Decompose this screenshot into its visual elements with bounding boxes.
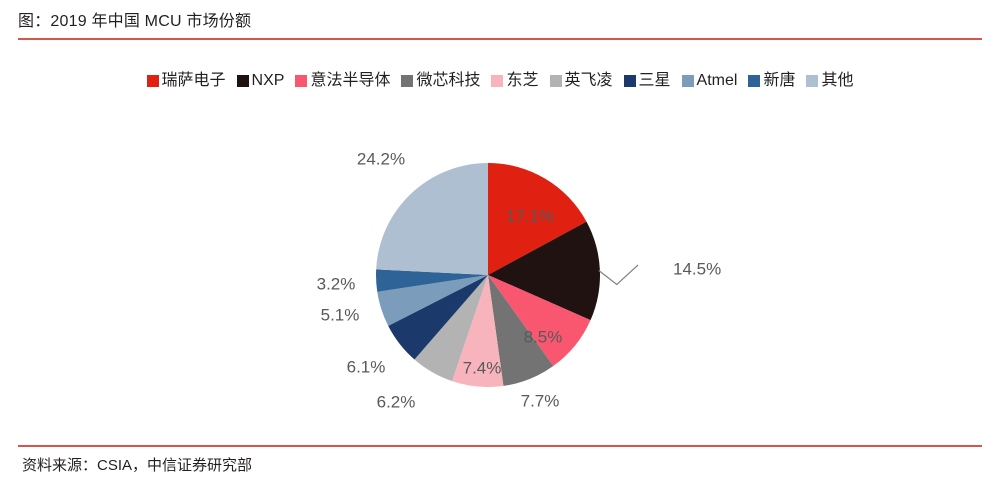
legend-item[interactable]: 新唐 <box>748 72 795 90</box>
legend-item-label: Atmel <box>697 72 738 90</box>
pie-chart-svg: 17.1%14.5%8.5%7.7%7.4%6.2%6.1%5.1%3.2%24… <box>0 106 1000 436</box>
legend-swatch-icon <box>624 75 636 87</box>
pie-label-leader-line <box>599 265 638 285</box>
legend-item-label: 瑞萨电子 <box>162 72 226 90</box>
legend-item[interactable]: 三星 <box>624 72 671 90</box>
legend-item-label: 东芝 <box>506 72 538 90</box>
legend-item-label: 新唐 <box>763 72 795 90</box>
title-divider <box>18 38 982 40</box>
source-note: 资料来源：CSIA，中信证券研究部 <box>22 455 252 477</box>
legend-item[interactable]: 瑞萨电子 <box>147 72 226 90</box>
legend-swatch-icon <box>295 75 307 87</box>
pie-slice-group <box>376 163 600 387</box>
legend-swatch-icon <box>237 75 249 87</box>
legend-item-label: NXP <box>252 72 285 90</box>
legend-item[interactable]: 东芝 <box>491 72 538 90</box>
legend-swatch-icon <box>550 75 562 87</box>
pie-leader-line-group <box>599 265 638 285</box>
pie-slice[interactable] <box>376 163 488 275</box>
page-title: 图：2019 年中国 MCU 市场份额 <box>18 10 982 34</box>
pie-slice-label: 24.2% <box>357 149 405 168</box>
legend-item[interactable]: 微芯科技 <box>401 72 480 90</box>
pie-slice-label: 14.5% <box>673 259 721 278</box>
legend-swatch-icon <box>147 75 159 87</box>
pie-slice-label: 7.4% <box>463 358 502 377</box>
legend-item[interactable]: Atmel <box>682 72 738 90</box>
pie-slice-label: 6.2% <box>377 392 416 411</box>
legend-item[interactable]: 英飞凌 <box>550 72 613 90</box>
legend-item[interactable]: NXP <box>237 72 285 90</box>
pie-slice-label: 5.1% <box>321 305 360 324</box>
pie-slice-label: 3.2% <box>317 274 356 293</box>
pie-slice-label: 8.5% <box>524 327 563 346</box>
pie-chart-area: 17.1%14.5%8.5%7.7%7.4%6.2%6.1%5.1%3.2%24… <box>0 106 1000 436</box>
legend-swatch-icon <box>682 75 694 87</box>
legend-item[interactable]: 意法半导体 <box>295 72 390 90</box>
pie-slice-label: 17.1% <box>506 206 554 225</box>
legend-swatch-icon <box>806 75 818 87</box>
legend-item-label: 其他 <box>821 72 853 90</box>
chart-legend: 瑞萨电子NXP意法半导体微芯科技东芝英飞凌三星Atmel新唐其他 <box>0 72 1000 90</box>
legend-swatch-icon <box>491 75 503 87</box>
legend-swatch-icon <box>401 75 413 87</box>
legend-item-label: 英飞凌 <box>565 72 613 90</box>
legend-item-label: 意法半导体 <box>310 72 390 90</box>
pie-slice-label: 7.7% <box>521 391 560 410</box>
legend-swatch-icon <box>748 75 760 87</box>
pie-slice-label: 6.1% <box>347 357 386 376</box>
legend-item[interactable]: 其他 <box>806 72 853 90</box>
footer-divider <box>18 445 982 447</box>
legend-item-label: 微芯科技 <box>416 72 480 90</box>
legend-item-label: 三星 <box>639 72 671 90</box>
